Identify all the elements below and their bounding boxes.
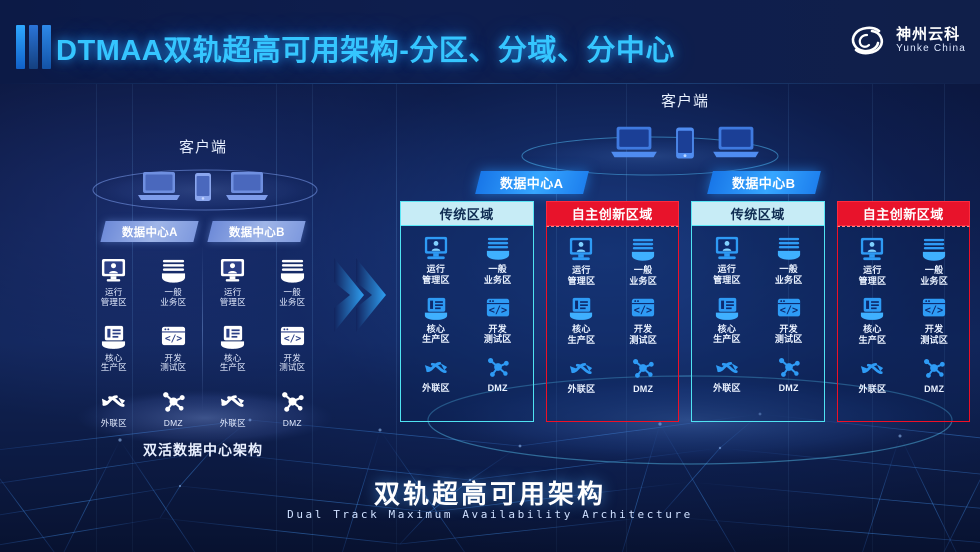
- network-nodes-icon: [776, 355, 802, 380]
- slide-header: DTMAA双轨超高可用架构-分区、分域、分中心 神州云科 Yunke China: [0, 0, 980, 84]
- zone-label: 运行管理区: [101, 288, 127, 308]
- laptop-icon: [224, 170, 270, 202]
- zone-一般业务区: 一般业务区: [144, 258, 204, 308]
- right-datacenter-a-badge: 数据中心A: [475, 171, 589, 194]
- zone-label: 外联区: [101, 419, 127, 429]
- code-window-icon: </>: [921, 296, 947, 321]
- zone-开发测试区: </>开发测试区: [903, 296, 965, 355]
- panel-header: 自主创新区域: [546, 201, 680, 226]
- user-monitor-icon: [568, 237, 594, 262]
- left-datacenter-b-badge: 数据中心B: [207, 221, 305, 242]
- zone-运行管理区: 运行管理区: [84, 258, 144, 308]
- network-nodes-icon: [630, 356, 656, 381]
- zone-核心生产区: 核心生产区: [696, 296, 758, 356]
- zone-运行管理区: 运行管理区: [551, 237, 613, 296]
- left-architecture-scene: 客户端 数据中心A 数据中心B: [78, 96, 328, 456]
- zone-label: 外联区: [859, 384, 887, 395]
- stacked-tray-icon: [921, 237, 947, 262]
- zone-一般业务区: 一般业务区: [612, 237, 674, 296]
- zone-label: 开发测试区: [920, 324, 948, 346]
- zone-运行管理区: 运行管理区: [203, 258, 263, 308]
- zone-dmz: DMZ: [903, 356, 965, 415]
- brand-logo: 神州云科 Yunke China: [846, 20, 966, 62]
- zone-运行管理区: 运行管理区: [696, 236, 758, 296]
- zone-label: DMZ: [633, 384, 653, 395]
- branch-arrows-icon: [568, 356, 594, 381]
- zone-开发测试区: </>开发测试区: [758, 296, 820, 356]
- zone-核心生产区: 核心生产区: [842, 296, 904, 355]
- zone-核心生产区: 核心生产区: [203, 324, 263, 374]
- code-window-icon: </>: [279, 324, 306, 350]
- smartphone-icon: [675, 126, 695, 160]
- zone-运行管理区: 运行管理区: [842, 237, 904, 296]
- zone-label: DMZ: [488, 383, 508, 394]
- zone-label: 核心生产区: [713, 324, 741, 346]
- zone-label: 一般业务区: [775, 264, 803, 286]
- user-monitor-icon: [859, 237, 885, 262]
- swirl-galaxy-icon: [846, 20, 888, 62]
- zone-label: 核心生产区: [568, 324, 596, 346]
- zone-label: 一般业务区: [160, 288, 186, 308]
- zone-dmz: DMZ: [144, 389, 204, 429]
- zone-label: 开发测试区: [160, 354, 186, 374]
- zone-外联区: 外联区: [203, 389, 263, 429]
- laptop-icon: [609, 124, 659, 160]
- branch-arrows-icon: [423, 355, 449, 380]
- left-client-label: 客户端: [78, 136, 328, 157]
- zone-外联区: 外联区: [84, 389, 144, 429]
- zone-外联区: 外联区: [696, 355, 758, 415]
- zone-开发测试区: </>开发测试区: [612, 296, 674, 355]
- network-nodes-icon: [279, 389, 306, 415]
- panel-header: 自主创新区域: [837, 201, 971, 226]
- logo-name-cn: 神州云科: [896, 27, 966, 44]
- zone-label: 外联区: [422, 383, 450, 394]
- svg-text:</>: </>: [634, 306, 652, 317]
- stacked-tray-icon: [279, 258, 306, 284]
- left-datacenter-badges: 数据中心A 数据中心B: [78, 221, 328, 242]
- zone-外联区: 外联区: [842, 356, 904, 415]
- zone-一般业务区: 一般业务区: [903, 237, 965, 296]
- zone-label: 开发测试区: [629, 324, 657, 346]
- left-client-devices: [78, 158, 328, 202]
- smartphone-icon: [194, 172, 212, 202]
- zone-label: 运行管理区: [220, 288, 246, 308]
- server-doc-icon: [423, 296, 449, 321]
- branch-arrows-icon: [219, 389, 246, 415]
- left-zone-grid: 运行管理区 一般业务区 运行管理区 一般业务区: [84, 258, 322, 429]
- server-doc-icon: [714, 296, 740, 321]
- logo-name-en: Yunke China: [896, 43, 966, 55]
- zone-开发测试区: </>开发测试区: [467, 296, 529, 356]
- left-datacenter-a-badge: 数据中心A: [100, 221, 198, 242]
- panel-dc-b-traditional: 传统区域 运行管理区 一般业务区 核心生产区 </>开发测试区 外联区 DMZ: [691, 201, 825, 422]
- stacked-tray-icon: [485, 236, 511, 261]
- laptop-icon: [136, 170, 182, 202]
- svg-text:</>: </>: [284, 333, 302, 344]
- stacked-tray-icon: [630, 237, 656, 262]
- panel-header: 传统区域: [400, 201, 534, 226]
- zone-一般业务区: 一般业务区: [758, 236, 820, 296]
- right-client-devices: [400, 112, 970, 160]
- branch-arrows-icon: [100, 389, 127, 415]
- zone-一般业务区: 一般业务区: [263, 258, 323, 308]
- code-window-icon: </>: [630, 296, 656, 321]
- network-nodes-icon: [160, 389, 187, 415]
- zone-label: DMZ: [164, 419, 183, 429]
- zone-label: 运行管理区: [422, 264, 450, 286]
- network-nodes-icon: [485, 355, 511, 380]
- zone-label: 外联区: [568, 384, 596, 395]
- zone-label: 运行管理区: [568, 265, 596, 287]
- zone-label: DMZ: [779, 383, 799, 394]
- server-doc-icon: [219, 324, 246, 350]
- code-window-icon: </>: [160, 324, 187, 350]
- zone-核心生产区: 核心生产区: [405, 296, 467, 356]
- svg-text:</>: </>: [488, 305, 506, 316]
- panel-header: 传统区域: [691, 201, 825, 226]
- zone-label: 一般业务区: [629, 265, 657, 287]
- zone-一般业务区: 一般业务区: [467, 236, 529, 296]
- bottom-caption-cn: 双轨超高可用架构: [0, 474, 980, 511]
- branch-arrows-icon: [714, 355, 740, 380]
- zone-label: DMZ: [283, 419, 302, 429]
- right-datacenter-b-badge: 数据中心B: [707, 171, 821, 194]
- stacked-tray-icon: [776, 236, 802, 261]
- code-window-icon: </>: [485, 296, 511, 321]
- zone-运行管理区: 运行管理区: [405, 236, 467, 296]
- user-monitor-icon: [100, 258, 127, 284]
- server-doc-icon: [859, 296, 885, 321]
- panel-dc-a-innovation: 自主创新区域 运行管理区 一般业务区 核心生产区 </>开发测试区 外联区 DM…: [546, 201, 680, 422]
- zone-dmz: DMZ: [467, 355, 529, 415]
- zone-label: 外联区: [220, 419, 246, 429]
- code-window-icon: </>: [776, 296, 802, 321]
- zone-label: 开发测试区: [484, 324, 512, 346]
- zone-dmz: DMZ: [263, 389, 323, 429]
- zone-核心生产区: 核心生产区: [551, 296, 613, 355]
- zone-label: 一般业务区: [279, 288, 305, 308]
- zone-label: 开发测试区: [775, 324, 803, 346]
- zone-开发测试区: </> 开发测试区: [263, 324, 323, 374]
- zone-label: 核心生产区: [859, 324, 887, 346]
- stacked-tray-icon: [160, 258, 187, 284]
- right-client-label: 客户端: [400, 90, 970, 111]
- zone-label: 一般业务区: [484, 264, 512, 286]
- page-title: DTMAA双轨超高可用架构-分区、分域、分中心: [56, 27, 675, 69]
- svg-text:</>: </>: [165, 333, 183, 344]
- zone-label: 运行管理区: [859, 265, 887, 287]
- zone-label: 开发测试区: [279, 354, 305, 374]
- zone-dmz: DMZ: [758, 355, 820, 415]
- network-nodes-icon: [921, 356, 947, 381]
- zone-dmz: DMZ: [612, 356, 674, 415]
- user-monitor-icon: [423, 236, 449, 261]
- double-chevron-right-icon: [330, 252, 392, 338]
- zone-label: 外联区: [713, 383, 741, 394]
- user-monitor-icon: [219, 258, 246, 284]
- zone-label: 核心生产区: [422, 324, 450, 346]
- zone-label: 核心生产区: [220, 354, 246, 374]
- panel-dc-b-innovation: 自主创新区域 运行管理区 一般业务区 核心生产区 </>开发测试区 外联区 DM…: [837, 201, 971, 422]
- zone-label: 运行管理区: [713, 264, 741, 286]
- zone-外联区: 外联区: [405, 355, 467, 415]
- svg-text:</>: </>: [925, 306, 943, 317]
- zone-label: DMZ: [924, 384, 944, 395]
- left-scene-caption: 双活数据中心架构: [78, 440, 328, 460]
- svg-text:</>: </>: [779, 305, 797, 316]
- branch-arrows-icon: [859, 356, 885, 381]
- zone-label: 一般业务区: [920, 265, 948, 287]
- bottom-caption-en: Dual Track Maximum Availability Architec…: [0, 508, 980, 521]
- slide-canvas: DTMAA双轨超高可用架构-分区、分域、分中心 神州云科 Yunke China…: [0, 0, 980, 552]
- server-doc-icon: [568, 296, 594, 321]
- zone-外联区: 外联区: [551, 356, 613, 415]
- panel-dc-a-traditional: 传统区域 运行管理区 一般业务区 核心生产区 </>开发测试区 外联区 DMZ: [400, 201, 534, 422]
- zone-label: 核心生产区: [101, 354, 127, 374]
- user-monitor-icon: [714, 236, 740, 261]
- header-accent-bars: [16, 25, 51, 69]
- server-doc-icon: [100, 324, 127, 350]
- right-zone-panels: 传统区域 运行管理区 一般业务区 核心生产区 </>开发测试区 外联区 DMZ …: [400, 201, 970, 422]
- right-architecture-scene: 客户端 数据中心A 数据中心B: [400, 88, 970, 488]
- laptop-icon: [711, 124, 761, 160]
- zone-核心生产区: 核心生产区: [84, 324, 144, 374]
- zone-开发测试区: </> 开发测试区: [144, 324, 204, 374]
